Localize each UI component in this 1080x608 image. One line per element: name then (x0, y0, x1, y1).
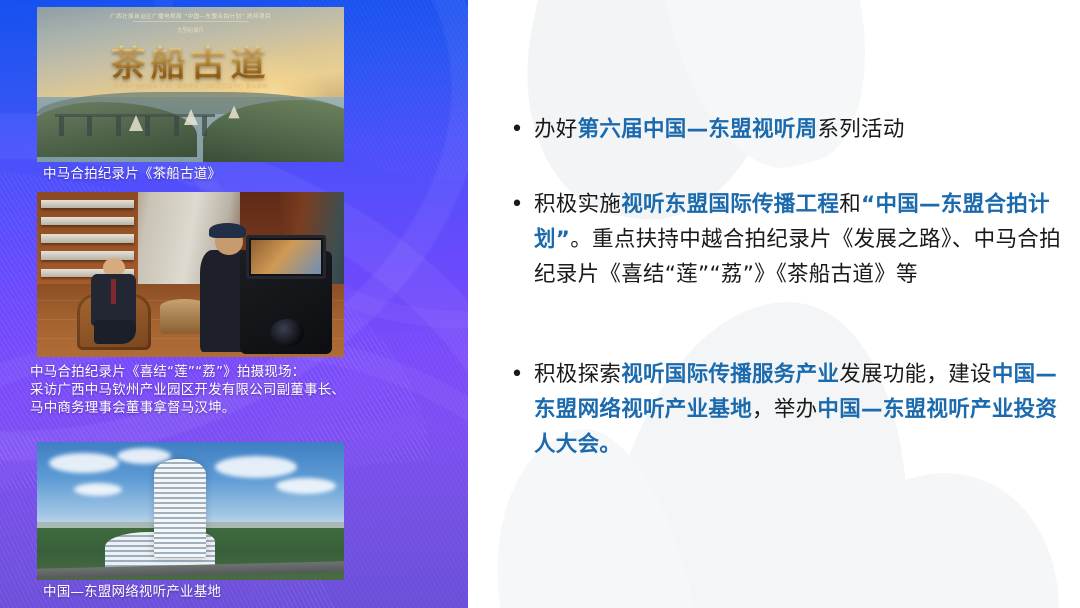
sailboat-2 (184, 109, 198, 125)
photo-interview-filming-scene (37, 192, 344, 357)
poster-subtitle: 大型纪录片 (37, 26, 344, 34)
poster-headline: 广西壮族自治区广播电视局 “中国—东盟合拍计划” 扶持项目 (37, 12, 344, 20)
camera-lens (270, 319, 304, 347)
camera-monitor (246, 235, 326, 279)
photo-industry-base-building (37, 442, 344, 580)
plain-run: 发展功能，建设 (839, 362, 992, 387)
operator-cap (209, 223, 246, 238)
photo-caption-2: 中马合拍纪录片《喜结“莲”“荔”》拍摄现场： 采访广西中马钦州产业园区开发有限公… (30, 364, 345, 417)
left-media-panel: 广西壮族自治区广播电视局 “中国—东盟合拍计划” 扶持项目 大型纪录片 茶船古道… (0, 0, 468, 608)
highlighted-run: 第六届中国—东盟视听周 (578, 117, 818, 142)
bullet-text-3: 积极探索视听国际传播服务产业发展功能，建设中国—东盟网络视听产业基地，举办中国—… (534, 358, 1070, 462)
plain-run: 积极实施 (534, 192, 621, 217)
bullet-item-3: • 积极探索视听国际传播服务产业发展功能，建设中国—东盟网络视听产业基地，举办中… (500, 358, 1070, 462)
right-content-panel: • 办好第六届中国—东盟视听周系列活动 • 积极实施视听东盟国际传播工程和“中国… (468, 0, 1080, 608)
highlighted-run: 视听东盟国际传播工程 (621, 192, 839, 217)
interviewee-figure (89, 258, 138, 344)
photo-2-artwork (37, 192, 344, 357)
photo-1-artwork: 广西壮族自治区广播电视局 “中国—东盟合拍计划” 扶持项目 大型纪录片 茶船古道… (37, 7, 344, 162)
bullet-marker-icon: • (500, 113, 534, 147)
bullet-item-1: • 办好第六届中国—东盟视听周系列活动 (500, 113, 1070, 148)
highlighted-run: 视听国际传播服务产业 (621, 362, 839, 387)
bullet-marker-icon: • (500, 188, 534, 222)
plain-run: 系列活动 (817, 117, 904, 142)
slide-canvas: 广西壮族自治区广播电视局 “中国—东盟合拍计划” 扶持项目 大型纪录片 茶船古道… (0, 0, 1080, 608)
bullet-text-1: 办好第六届中国—东盟视听周系列活动 (534, 113, 1070, 148)
bullet-marker-icon: • (500, 358, 534, 392)
bullet-item-2: • 积极实施视听东盟国际传播工程和“中国—东盟合拍计划”。重点扶持中越合拍纪录片… (500, 188, 1070, 292)
curved-tower (154, 459, 206, 558)
plain-run: 和 (839, 192, 861, 217)
plain-run: 积极探索 (534, 362, 621, 387)
plain-run: 办好 (534, 117, 578, 142)
photo-documentary-title-card: 广西壮族自治区广播电视局 “中国—东盟合拍计划” 扶持项目 大型纪录片 茶船古道… (37, 7, 344, 162)
photo-caption-3: 中国—东盟网络视听产业基地 (43, 584, 221, 602)
plain-run: ，举办 (752, 397, 817, 422)
poster-rule (132, 21, 249, 22)
photo-3-artwork (37, 442, 344, 580)
bullet-list: • 办好第六届中国—东盟视听周系列活动 • 积极实施视听东盟国际传播工程和“中国… (468, 0, 1080, 608)
sailboat-1 (129, 115, 143, 131)
poster-title: 茶船古道 (37, 36, 344, 87)
bullet-text-2: 积极实施视听东盟国际传播工程和“中国—东盟合拍计划”。重点扶持中越合拍纪录片《发… (534, 188, 1070, 292)
poster-credit: 梧州市广播电视台 广西广播电视台卫视频道节目中心 联合摄制 (37, 83, 344, 91)
photo-caption-1: 中马合拍纪录片《茶船古道》 (43, 166, 221, 184)
sailboat-3 (229, 106, 240, 119)
plain-run: 。重点扶持中越合拍纪录片《发展之路》、中马合拍纪录片《喜结“莲”“荔”》《茶船古… (534, 227, 1061, 287)
